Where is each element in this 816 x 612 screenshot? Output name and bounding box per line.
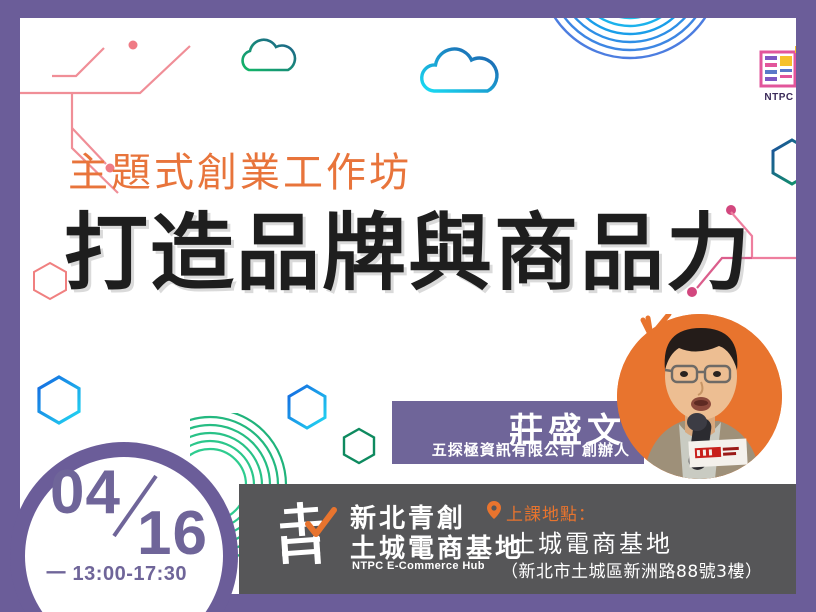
venue-name: 土城電商基地 [511,524,673,559]
cloud-green-icon [235,36,305,83]
ntpc-label: NTPC [751,92,796,103]
check-mark-icon [639,314,675,348]
hexagon-blue-decoration [36,375,82,425]
hexagon-green-right-decoration [770,138,796,186]
organizer-logo: 新北青創 土城電商基地 NTPC E-Commerce Hub [268,496,483,578]
ntpc-logo: NTPC [751,46,796,108]
speaker-badge: 莊盛文 五探極資訊有限公司 創辦人 [392,401,644,464]
poster-root: 主題式創業工作坊 打造品牌與商品力 NTPC 莊盛文 五探極資訊有限公司 創辦人 [0,0,816,612]
cloud-cyan-icon [416,44,512,107]
date-time: 一 13:00-17:30 [46,557,187,586]
arc-rings-cyan-decoration [540,18,720,103]
poster-title: 打造品牌與商品力 [64,186,752,307]
organizer-mark-icon [268,500,340,572]
location-pin-icon [487,501,501,519]
organizer-name-english: NTPC E-Commerce Hub [352,560,485,572]
hexagon-pink-decoration [32,261,68,301]
venue-address: （新北市土城區新洲路88號3樓） [501,557,762,582]
hexagon-green-decoration [342,427,376,465]
venue-heading: 上課地點： [506,500,596,525]
speaker-role: 五探極資訊有限公司 創辦人 [432,439,630,460]
